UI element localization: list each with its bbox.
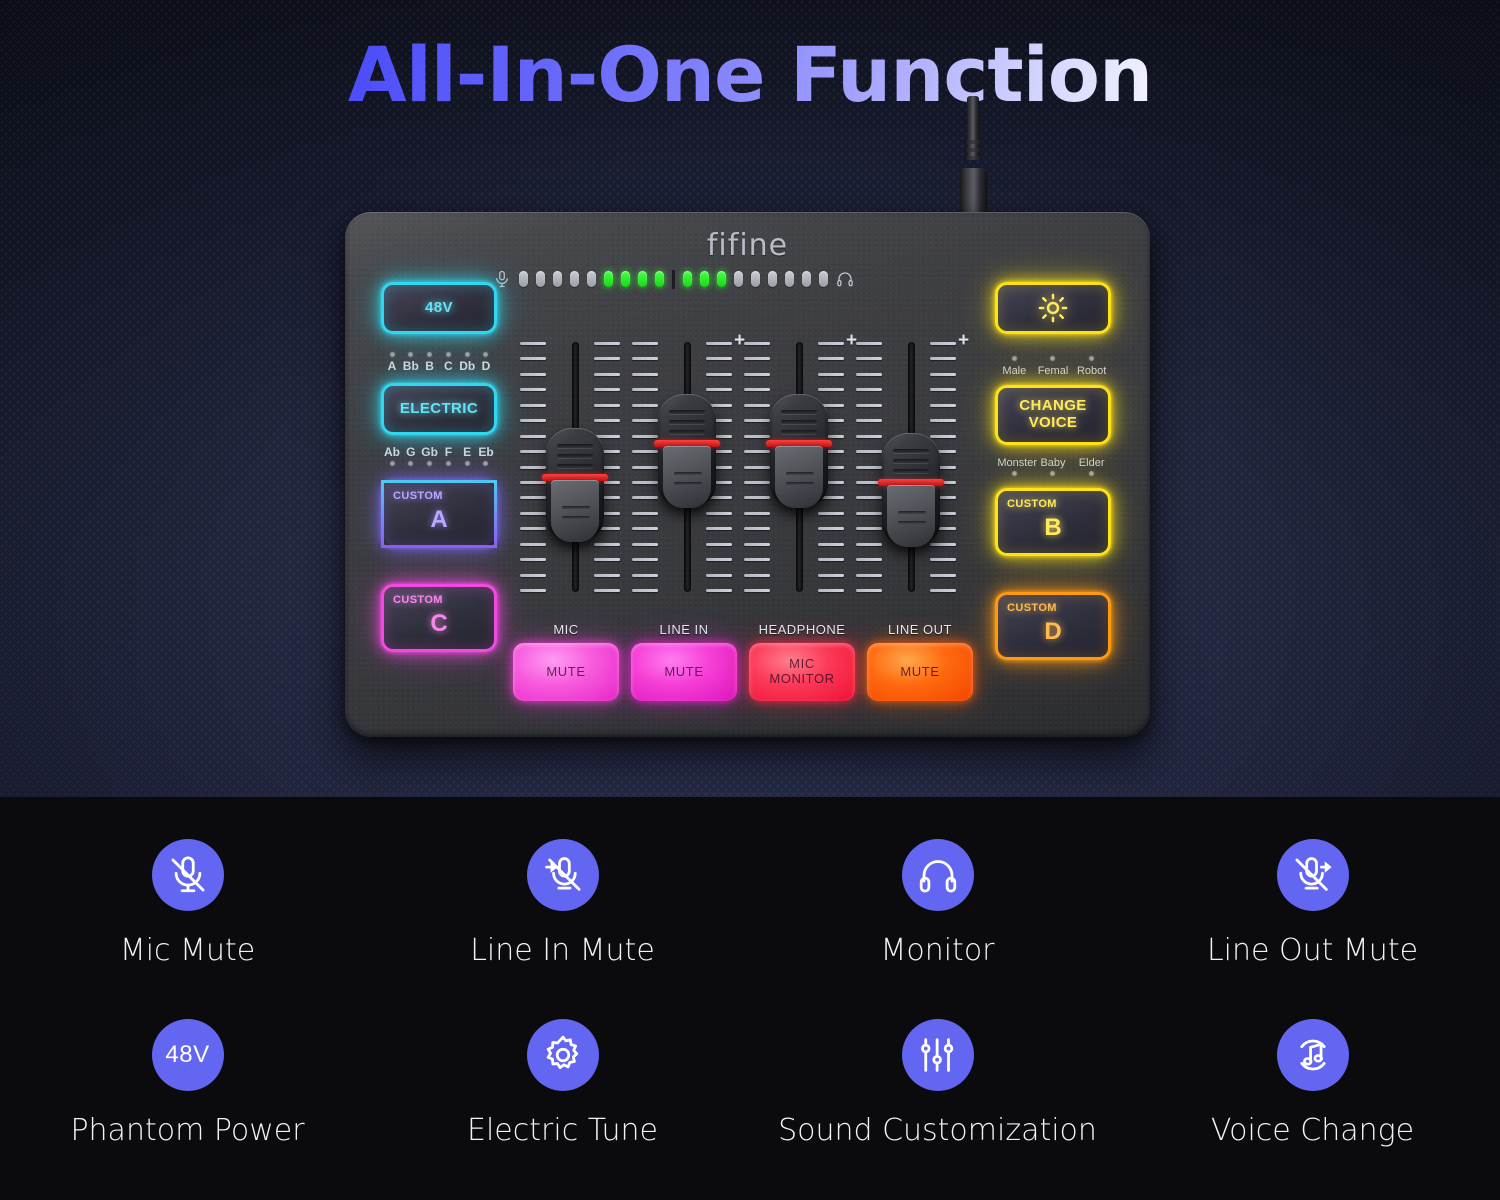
knob-ridge bbox=[893, 459, 929, 463]
fader-tick bbox=[594, 589, 620, 592]
note-label: Ab bbox=[384, 445, 400, 459]
fader-tick bbox=[632, 496, 658, 499]
custom-a-button[interactable]: CUSTOM A bbox=[381, 480, 497, 548]
led-segment bbox=[655, 271, 664, 287]
headphone-icon bbox=[902, 839, 974, 911]
knob-ridge bbox=[781, 420, 817, 424]
audio-mixer-device: fifine 48V bbox=[345, 212, 1150, 737]
music-note-circle-icon bbox=[1277, 1019, 1349, 1091]
voice-label: Baby bbox=[1040, 457, 1065, 469]
fader-tick bbox=[818, 558, 844, 561]
fader-tick bbox=[632, 527, 658, 530]
led-segment bbox=[621, 271, 630, 287]
features-section: Mic MuteLine In MuteMonitorLine Out Mute… bbox=[0, 797, 1500, 1200]
usb-cable bbox=[955, 96, 995, 226]
fader-tick bbox=[632, 543, 658, 546]
48v-text: 48V bbox=[165, 1041, 209, 1069]
led-segment bbox=[785, 271, 794, 287]
voice-labels-bottom: Monster Baby Elder bbox=[995, 453, 1111, 471]
fader-tick bbox=[706, 373, 732, 376]
fader-tick bbox=[930, 574, 956, 577]
fader-tick bbox=[520, 496, 546, 499]
fader-tick bbox=[744, 357, 770, 360]
fader-tick bbox=[594, 388, 620, 391]
fader-scale-left bbox=[744, 342, 770, 592]
fader-tick bbox=[632, 357, 658, 360]
line-in-muted-icon bbox=[527, 839, 599, 911]
led-segment bbox=[536, 271, 545, 287]
fader-line-out[interactable]: + bbox=[856, 334, 968, 599]
fader-tick bbox=[856, 589, 882, 592]
voice-labels-top: Male Femal Robot bbox=[995, 361, 1111, 379]
fader-tick bbox=[632, 342, 658, 345]
fader-tick bbox=[856, 404, 882, 407]
fader-tick bbox=[930, 342, 956, 345]
led-segment bbox=[768, 271, 777, 287]
fader-tick bbox=[744, 496, 770, 499]
pad-header-label: LINE OUT bbox=[867, 622, 973, 637]
feature-label: Sound Customization bbox=[778, 1113, 1097, 1148]
knob-ridge bbox=[781, 410, 817, 414]
fader-tick bbox=[706, 574, 732, 577]
note-label: Db bbox=[459, 359, 475, 373]
fader-tick bbox=[520, 388, 546, 391]
led-segment bbox=[553, 271, 562, 287]
fader-scale-left bbox=[856, 342, 882, 592]
voice-label: Male bbox=[1002, 365, 1026, 377]
fader-scale-left bbox=[520, 342, 546, 592]
led-segment bbox=[819, 271, 828, 287]
feature-sound-customization: Sound Customization bbox=[750, 1019, 1125, 1148]
usb-cable-rib bbox=[964, 156, 982, 160]
pad-text: MUTE bbox=[900, 665, 939, 680]
knob-ridge bbox=[669, 420, 705, 424]
custom-b-button[interactable]: CUSTOM B bbox=[995, 488, 1111, 556]
led-level-meter bbox=[493, 268, 854, 290]
usb-cable-rib bbox=[964, 140, 982, 144]
fader-tick bbox=[856, 574, 882, 577]
fader-tick bbox=[632, 512, 658, 515]
led-segment bbox=[751, 271, 760, 287]
knob-line bbox=[674, 472, 702, 475]
feature-electric-tune: Electric Tune bbox=[375, 1019, 750, 1148]
knob-line bbox=[786, 482, 814, 485]
led-group-left bbox=[519, 271, 664, 287]
pad-mic-monitor-wrapper: HEADPHONEMICMONITOR bbox=[749, 622, 855, 701]
voice-label: Robot bbox=[1077, 365, 1106, 377]
note-labels-top: A Bb B C Db D bbox=[381, 357, 497, 375]
fader-tick bbox=[856, 342, 882, 345]
fader-tick bbox=[856, 543, 882, 546]
feature-label: Electric Tune bbox=[467, 1113, 658, 1148]
fader-tick bbox=[520, 357, 546, 360]
gear-icon bbox=[527, 1019, 599, 1091]
fader-tick bbox=[520, 466, 546, 469]
led-segment bbox=[519, 271, 528, 287]
knob-line bbox=[562, 516, 590, 519]
electric-button[interactable]: ELECTRIC bbox=[381, 383, 497, 435]
fader-tick bbox=[856, 419, 882, 422]
fader-tick bbox=[706, 558, 732, 561]
fader-tick bbox=[594, 543, 620, 546]
line-out-muted-icon bbox=[1277, 839, 1349, 911]
fader-tick bbox=[632, 466, 658, 469]
fader-tick bbox=[856, 527, 882, 530]
pad-line-out-mute-wrapper: LINE OUTMUTE bbox=[867, 622, 973, 701]
fader-tick bbox=[520, 527, 546, 530]
feature-label: Line In Mute bbox=[470, 933, 655, 968]
feature-label: Voice Change bbox=[1211, 1113, 1414, 1148]
fader-tick bbox=[744, 450, 770, 453]
fader-tick bbox=[856, 450, 882, 453]
knob-ridge bbox=[557, 444, 593, 448]
fader-tick bbox=[706, 342, 732, 345]
note-label: E bbox=[463, 445, 471, 459]
page-root: All-In-One Function fifine bbox=[0, 0, 1500, 1200]
voice-led bbox=[1050, 471, 1055, 476]
fader-tick bbox=[744, 543, 770, 546]
voice-label: Monster bbox=[997, 457, 1037, 469]
fader-tick bbox=[706, 589, 732, 592]
pad-header-label: MIC bbox=[513, 622, 619, 637]
knob-ridge bbox=[557, 464, 593, 468]
fader-mic[interactable] bbox=[520, 334, 632, 599]
note-label: B bbox=[425, 359, 434, 373]
knob-line bbox=[786, 472, 814, 475]
fader-tick bbox=[706, 388, 732, 391]
voice-label: Femal bbox=[1038, 365, 1069, 377]
feature-mic-mute: Mic Mute bbox=[0, 839, 375, 968]
led-group-right bbox=[683, 271, 828, 287]
fader-tick bbox=[594, 419, 620, 422]
note-label: G bbox=[406, 445, 415, 459]
pad-text: MUTE bbox=[546, 665, 585, 680]
fader-tick bbox=[594, 404, 620, 407]
fader-tick bbox=[632, 558, 658, 561]
fader-tick bbox=[594, 373, 620, 376]
page-title: All-In-One Function bbox=[0, 30, 1500, 119]
fader-tick bbox=[856, 466, 882, 469]
fader-tick bbox=[520, 574, 546, 577]
mic-muted-icon bbox=[152, 839, 224, 911]
brand-logo: fifine bbox=[345, 228, 1150, 263]
fader-tick bbox=[818, 527, 844, 530]
fader-tick bbox=[520, 419, 546, 422]
fader-tick bbox=[930, 543, 956, 546]
fader-tick bbox=[632, 419, 658, 422]
feature-row-bottom: 48VPhantom PowerElectric TuneSound Custo… bbox=[0, 1019, 1500, 1148]
knob-ridge bbox=[893, 469, 929, 473]
fader-tick bbox=[818, 357, 844, 360]
fader-tick bbox=[818, 388, 844, 391]
led-segment bbox=[570, 271, 579, 287]
fader-headphone[interactable]: + bbox=[744, 334, 856, 599]
fader-tick bbox=[818, 574, 844, 577]
fader-tick bbox=[930, 435, 956, 438]
hero-section: All-In-One Function fifine bbox=[0, 0, 1500, 797]
fader-tick bbox=[520, 373, 546, 376]
led-segment bbox=[717, 271, 726, 287]
led-segment bbox=[587, 271, 596, 287]
custom-d-button[interactable]: CUSTOM D bbox=[995, 592, 1111, 660]
pad-mic-monitor[interactable]: MICMONITOR bbox=[749, 643, 855, 701]
left-button-column: 48V A Bb B C Db D bbox=[381, 282, 497, 652]
fader-tick bbox=[520, 450, 546, 453]
fader-tick bbox=[744, 589, 770, 592]
fader-tick bbox=[930, 404, 956, 407]
48v-button[interactable]: 48V bbox=[381, 282, 497, 334]
voice-label: Elder bbox=[1079, 457, 1105, 469]
feature-monitor: Monitor bbox=[750, 839, 1125, 968]
usb-cable-rib bbox=[964, 148, 982, 152]
fader-tick bbox=[520, 589, 546, 592]
pad-line-in-mute[interactable]: MUTE bbox=[631, 643, 737, 701]
fader-knob[interactable] bbox=[882, 433, 940, 545]
fader-tick bbox=[520, 543, 546, 546]
led-segment bbox=[604, 271, 613, 287]
note-labels-bottom: Ab G Gb F E Eb bbox=[381, 443, 497, 461]
fader-tick bbox=[744, 373, 770, 376]
fader-tick bbox=[930, 589, 956, 592]
pad-text: MICMONITOR bbox=[769, 657, 834, 686]
note-led bbox=[408, 461, 413, 466]
fader-tick bbox=[744, 574, 770, 577]
pad-line-in-mute-wrapper: LINE INMUTE bbox=[631, 622, 737, 701]
voice-led bbox=[1089, 471, 1094, 476]
fader-tick bbox=[520, 512, 546, 515]
sun-icon bbox=[1038, 293, 1068, 323]
pad-text: MUTE bbox=[664, 665, 703, 680]
fader-tick bbox=[520, 435, 546, 438]
fader-knob[interactable] bbox=[546, 428, 604, 540]
fader-tick bbox=[856, 373, 882, 376]
fader-tick bbox=[744, 404, 770, 407]
fader-tick bbox=[520, 404, 546, 407]
fader-plus-mark: + bbox=[958, 330, 969, 352]
fader-knob[interactable] bbox=[658, 394, 716, 506]
fader-tick bbox=[632, 481, 658, 484]
fader-tick bbox=[594, 558, 620, 561]
feature-line-in-mute: Line In Mute bbox=[375, 839, 750, 968]
fader-tick bbox=[632, 373, 658, 376]
custom-c-button[interactable]: CUSTOM C bbox=[381, 584, 497, 652]
knob-line bbox=[562, 506, 590, 509]
feature-label: Phantom Power bbox=[70, 1113, 304, 1148]
pad-header-label: HEADPHONE bbox=[749, 622, 855, 637]
fader-tick bbox=[856, 496, 882, 499]
sliders-icon bbox=[902, 1019, 974, 1091]
fader-tick bbox=[856, 388, 882, 391]
fader-tick bbox=[818, 543, 844, 546]
note-label: A bbox=[388, 359, 397, 373]
headphone-icon bbox=[836, 268, 854, 290]
fader-tick bbox=[744, 419, 770, 422]
led-segment bbox=[683, 271, 692, 287]
fader-tick bbox=[706, 527, 732, 530]
fader-tick bbox=[744, 388, 770, 391]
feature-row-top: Mic MuteLine In MuteMonitorLine Out Mute bbox=[0, 839, 1500, 968]
note-label: D bbox=[482, 359, 491, 373]
fader-tick bbox=[744, 466, 770, 469]
voice-led bbox=[1012, 471, 1017, 476]
note-led bbox=[483, 461, 488, 466]
fader-tick bbox=[594, 342, 620, 345]
note-label: Eb bbox=[478, 445, 493, 459]
note-led bbox=[427, 461, 432, 466]
mute-pad-bank: MICMUTELINE INMUTEHEADPHONEMICMONITORLIN… bbox=[513, 622, 979, 712]
feature-label: Line Out Mute bbox=[1207, 933, 1418, 968]
led-segment bbox=[700, 271, 709, 287]
led-center-divider bbox=[672, 270, 675, 289]
fader-tick bbox=[632, 450, 658, 453]
fader-tick bbox=[520, 558, 546, 561]
fader-tick bbox=[856, 512, 882, 515]
note-label: F bbox=[445, 445, 452, 459]
knob-ridge bbox=[781, 430, 817, 434]
fader-tick bbox=[744, 342, 770, 345]
fader-tick bbox=[744, 512, 770, 515]
fader-tick bbox=[520, 481, 546, 484]
voice-dots-bottom bbox=[995, 471, 1111, 476]
fader-tick bbox=[818, 512, 844, 515]
right-button-column: Male Femal Robot CHANGE VOICE Monster Ba… bbox=[995, 282, 1111, 660]
fader-tick bbox=[632, 388, 658, 391]
feature-line-out-mute: Line Out Mute bbox=[1125, 839, 1500, 968]
knob-line bbox=[674, 482, 702, 485]
fader-tick bbox=[856, 357, 882, 360]
knob-ridge bbox=[557, 454, 593, 458]
fader-tick bbox=[594, 574, 620, 577]
pad-mic-mute[interactable]: MUTE bbox=[513, 643, 619, 701]
knob-lower bbox=[551, 480, 599, 542]
knob-ridge bbox=[893, 449, 929, 453]
pad-header-label: LINE IN bbox=[631, 622, 737, 637]
fader-tick bbox=[818, 373, 844, 376]
fader-tick bbox=[744, 527, 770, 530]
pad-line-out-mute[interactable]: MUTE bbox=[867, 643, 973, 701]
led-segment bbox=[802, 271, 811, 287]
fader-tick bbox=[706, 512, 732, 515]
knob-line bbox=[898, 511, 926, 514]
fader-tick bbox=[706, 357, 732, 360]
fader-tick bbox=[744, 558, 770, 561]
fader-tick bbox=[930, 373, 956, 376]
change-voice-button[interactable]: CHANGE VOICE bbox=[995, 385, 1111, 445]
fader-tick bbox=[818, 589, 844, 592]
48v-text-icon: 48V bbox=[152, 1019, 224, 1091]
note-dots-bottom bbox=[381, 461, 497, 466]
feature-label: Mic Mute bbox=[120, 933, 255, 968]
fader-line-in[interactable]: + bbox=[632, 334, 744, 599]
note-led bbox=[390, 461, 395, 466]
fader-tick bbox=[744, 481, 770, 484]
knob-ridge bbox=[669, 430, 705, 434]
knob-ridge bbox=[669, 410, 705, 414]
note-label: Bb bbox=[403, 359, 419, 373]
fader-knob[interactable] bbox=[770, 394, 828, 506]
led-segment bbox=[734, 271, 743, 287]
led-segment bbox=[638, 271, 647, 287]
fader-tick bbox=[856, 435, 882, 438]
note-led bbox=[465, 461, 470, 466]
fader-bank: +++ bbox=[520, 334, 970, 599]
pad-mic-mute-wrapper: MICMUTE bbox=[513, 622, 619, 701]
fader-tick bbox=[632, 435, 658, 438]
fader-tick bbox=[930, 558, 956, 561]
fader-tick bbox=[856, 558, 882, 561]
fader-tick bbox=[818, 342, 844, 345]
knob-lower bbox=[775, 446, 823, 508]
feature-label: Monitor bbox=[880, 933, 994, 968]
fader-scale-left bbox=[632, 342, 658, 592]
knob-line bbox=[898, 521, 926, 524]
feature-voice-change: Voice Change bbox=[1125, 1019, 1500, 1148]
knob-lower bbox=[663, 446, 711, 508]
note-led bbox=[446, 461, 451, 466]
note-label: Gb bbox=[421, 445, 438, 459]
feature-phantom-power: 48VPhantom Power bbox=[0, 1019, 375, 1148]
brightness-button[interactable] bbox=[995, 282, 1111, 334]
fader-tick bbox=[706, 543, 732, 546]
note-label: C bbox=[444, 359, 453, 373]
fader-tick bbox=[520, 342, 546, 345]
fader-tick bbox=[930, 388, 956, 391]
fader-tick bbox=[930, 419, 956, 422]
fader-tick bbox=[744, 435, 770, 438]
fader-tick bbox=[930, 357, 956, 360]
fader-tick bbox=[632, 589, 658, 592]
fader-tick bbox=[632, 574, 658, 577]
knob-lower bbox=[887, 485, 935, 547]
fader-tick bbox=[594, 357, 620, 360]
fader-tick bbox=[632, 404, 658, 407]
